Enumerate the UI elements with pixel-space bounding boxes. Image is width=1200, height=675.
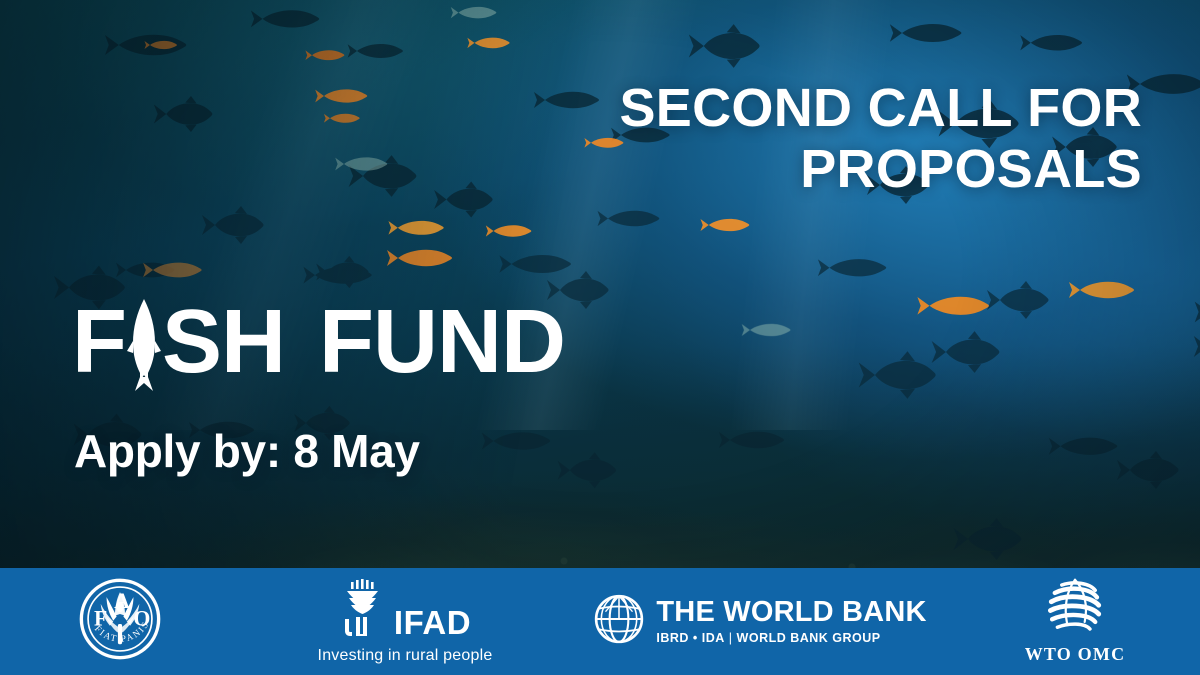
world-bank-title: THE WORLD BANK (656, 598, 926, 628)
headline: SECOND CALL FOR PROPOSALS (502, 78, 1142, 200)
fao-letter-a: A (114, 589, 130, 613)
fao-emblem-icon: F A O FIAT PANIS (78, 577, 162, 666)
fish-icon (127, 297, 161, 393)
globe-icon (593, 593, 645, 650)
ifad-tagline: Investing in rural people (318, 647, 493, 665)
wordmark-sh: SH (162, 297, 285, 387)
wordmark-fund: FUND (319, 297, 565, 387)
world-bank-sub-right: WORLD BANK GROUP (737, 631, 881, 645)
world-bank-sub-divider: | (725, 631, 737, 645)
world-bank-sub-left: IBRD • IDA (656, 631, 724, 645)
ifad-emblem-icon (339, 579, 391, 642)
headline-line-2: PROPOSALS (502, 139, 1142, 200)
headline-line-1: SECOND CALL FOR (502, 78, 1142, 139)
wto-globe-icon (1044, 578, 1106, 641)
wordmark-f: F (72, 297, 126, 387)
fish-fund-wordmark: F SH FUND (72, 294, 565, 390)
poster-canvas: SECOND CALL FOR PROPOSALS F SH FUND Appl… (0, 0, 1200, 675)
logo-fao[interactable]: F A O FIAT PANIS (0, 568, 240, 675)
ifad-wordmark: IFAD (394, 604, 471, 642)
deadline-text: Apply by: 8 May (74, 424, 420, 478)
partner-logo-bar: F A O FIAT PANIS (0, 568, 1200, 675)
wto-wordmark: WTO OMC (1025, 644, 1126, 665)
logo-wto[interactable]: WTO OMC (950, 568, 1200, 675)
logo-ifad[interactable]: IFAD Investing in rural people (240, 568, 570, 675)
logo-world-bank[interactable]: THE WORLD BANK IBRD • IDA|WORLD BANK GRO… (570, 568, 950, 675)
world-bank-subtitle: IBRD • IDA|WORLD BANK GROUP (656, 631, 926, 645)
